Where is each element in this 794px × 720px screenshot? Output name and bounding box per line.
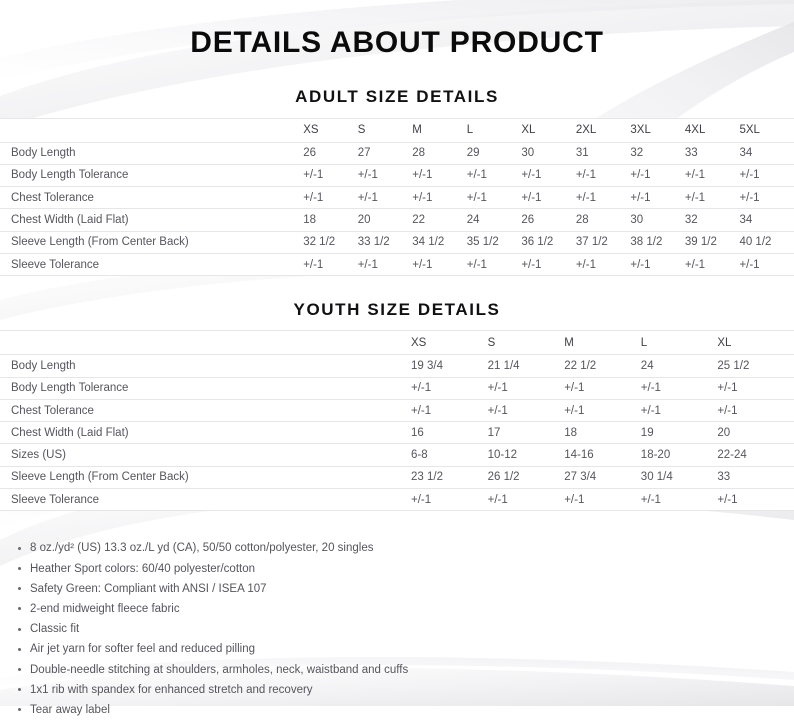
- row-label: Chest Tolerance: [0, 187, 303, 209]
- cell: +/-1: [488, 489, 565, 511]
- cell: 24: [641, 355, 718, 377]
- table-row: Body Length Tolerance +/-1 +/-1 +/-1 +/-…: [0, 377, 794, 399]
- cell: +/-1: [564, 377, 641, 399]
- cell: 22-24: [717, 444, 794, 466]
- cell: 6-8: [411, 444, 488, 466]
- cell: +/-1: [564, 399, 641, 421]
- adult-table-header-row: XS S M L XL 2XL 3XL 4XL 5XL: [0, 118, 794, 142]
- cell: +/-1: [412, 187, 467, 209]
- cell: 33 1/2: [358, 231, 413, 253]
- cell: 34 1/2: [412, 231, 467, 253]
- adult-col-header-xl: XL: [521, 118, 576, 142]
- cell: 32: [685, 209, 740, 231]
- product-details-page: DETAILS ABOUT PRODUCT ADULT SIZE DETAILS…: [0, 0, 794, 706]
- row-label: Body Length: [0, 142, 303, 164]
- cell: 30: [630, 209, 685, 231]
- list-item: Classic fit: [0, 619, 794, 639]
- cell: +/-1: [303, 164, 358, 186]
- cell: +/-1: [521, 253, 576, 275]
- cell: 34: [739, 209, 794, 231]
- cell: 18-20: [641, 444, 718, 466]
- list-item: Air jet yarn for softer feel and reduced…: [0, 639, 794, 659]
- row-label: Chest Width (Laid Flat): [0, 422, 411, 444]
- cell: +/-1: [412, 253, 467, 275]
- list-item: Tear away label: [0, 700, 794, 720]
- table-row: Sizes (US) 6-8 10-12 14-16 18-20 22-24: [0, 444, 794, 466]
- cell: +/-1: [630, 164, 685, 186]
- adult-col-header-m: M: [412, 118, 467, 142]
- table-row: Sleeve Tolerance +/-1 +/-1 +/-1 +/-1 +/-…: [0, 489, 794, 511]
- adult-header-corner: [0, 118, 303, 142]
- table-row: Chest Tolerance +/-1 +/-1 +/-1 +/-1 +/-1: [0, 399, 794, 421]
- youth-col-header-s: S: [488, 331, 565, 355]
- cell: +/-1: [641, 489, 718, 511]
- adult-col-header-4xl: 4XL: [685, 118, 740, 142]
- youth-header-corner: [0, 331, 411, 355]
- cell: 14-16: [564, 444, 641, 466]
- cell: +/-1: [467, 187, 522, 209]
- cell: +/-1: [739, 164, 794, 186]
- cell: +/-1: [630, 187, 685, 209]
- cell: 20: [358, 209, 413, 231]
- cell: +/-1: [685, 164, 740, 186]
- cell: 32 1/2: [303, 231, 358, 253]
- adult-size-table: XS S M L XL 2XL 3XL 4XL 5XL Body Length …: [0, 118, 794, 277]
- adult-size-details-heading: ADULT SIZE DETAILS: [0, 59, 794, 107]
- cell: +/-1: [685, 253, 740, 275]
- row-label: Body Length Tolerance: [0, 377, 411, 399]
- cell: +/-1: [521, 164, 576, 186]
- cell: +/-1: [685, 187, 740, 209]
- cell: +/-1: [564, 489, 641, 511]
- list-item: 8 oz./yd² (US) 13.3 oz./L yd (CA), 50/50…: [0, 538, 794, 558]
- adult-col-header-2xl: 2XL: [576, 118, 631, 142]
- cell: +/-1: [303, 187, 358, 209]
- cell: 17: [488, 422, 565, 444]
- page-title: DETAILS ABOUT PRODUCT: [0, 0, 794, 59]
- cell: 27 3/4: [564, 466, 641, 488]
- cell: 32: [630, 142, 685, 164]
- row-label: Chest Tolerance: [0, 399, 411, 421]
- cell: 22: [412, 209, 467, 231]
- cell: +/-1: [467, 253, 522, 275]
- table-row: Sleeve Length (From Center Back) 23 1/2 …: [0, 466, 794, 488]
- youth-col-header-m: M: [564, 331, 641, 355]
- cell: 24: [467, 209, 522, 231]
- cell: 30 1/4: [641, 466, 718, 488]
- cell: 33: [685, 142, 740, 164]
- cell: 38 1/2: [630, 231, 685, 253]
- adult-col-header-5xl: 5XL: [739, 118, 794, 142]
- adult-col-header-xs: XS: [303, 118, 358, 142]
- cell: 36 1/2: [521, 231, 576, 253]
- table-row: Body Length 26 27 28 29 30 31 32 33 34: [0, 142, 794, 164]
- cell: 26: [521, 209, 576, 231]
- list-item: Heather Sport colors: 60/40 polyester/co…: [0, 559, 794, 579]
- cell: +/-1: [358, 187, 413, 209]
- row-label: Sizes (US): [0, 444, 411, 466]
- cell: 30: [521, 142, 576, 164]
- table-row: Chest Tolerance +/-1 +/-1 +/-1 +/-1 +/-1…: [0, 187, 794, 209]
- cell: 34: [739, 142, 794, 164]
- cell: +/-1: [411, 489, 488, 511]
- cell: 10-12: [488, 444, 565, 466]
- table-row: Sleeve Length (From Center Back) 32 1/2 …: [0, 231, 794, 253]
- cell: +/-1: [411, 377, 488, 399]
- cell: +/-1: [576, 164, 631, 186]
- cell: 27: [358, 142, 413, 164]
- youth-size-details-heading: YOUTH SIZE DETAILS: [0, 276, 794, 320]
- cell: +/-1: [717, 399, 794, 421]
- cell: 19: [641, 422, 718, 444]
- cell: +/-1: [412, 164, 467, 186]
- cell: 23 1/2: [411, 466, 488, 488]
- youth-col-header-l: L: [641, 331, 718, 355]
- cell: 25 1/2: [717, 355, 794, 377]
- cell: 18: [564, 422, 641, 444]
- cell: 26 1/2: [488, 466, 565, 488]
- table-row: Body Length Tolerance +/-1 +/-1 +/-1 +/-…: [0, 164, 794, 186]
- youth-col-header-xl: XL: [717, 331, 794, 355]
- list-item: Safety Green: Compliant with ANSI / ISEA…: [0, 579, 794, 599]
- cell: +/-1: [576, 187, 631, 209]
- cell: 18: [303, 209, 358, 231]
- row-label: Sleeve Length (From Center Back): [0, 466, 411, 488]
- row-label: Chest Width (Laid Flat): [0, 209, 303, 231]
- table-row: Body Length 19 3/4 21 1/4 22 1/2 24 25 1…: [0, 355, 794, 377]
- cell: 29: [467, 142, 522, 164]
- youth-col-header-xs: XS: [411, 331, 488, 355]
- cell: 16: [411, 422, 488, 444]
- cell: +/-1: [739, 187, 794, 209]
- cell: 21 1/4: [488, 355, 565, 377]
- table-row: Chest Width (Laid Flat) 16 17 18 19 20: [0, 422, 794, 444]
- cell: +/-1: [739, 253, 794, 275]
- cell: +/-1: [641, 399, 718, 421]
- cell: 19 3/4: [411, 355, 488, 377]
- cell: 28: [576, 209, 631, 231]
- table-row: Sleeve Tolerance +/-1 +/-1 +/-1 +/-1 +/-…: [0, 253, 794, 275]
- adult-col-header-3xl: 3XL: [630, 118, 685, 142]
- cell: 31: [576, 142, 631, 164]
- cell: +/-1: [576, 253, 631, 275]
- cell: +/-1: [467, 164, 522, 186]
- cell: +/-1: [358, 164, 413, 186]
- cell: +/-1: [411, 399, 488, 421]
- adult-col-header-s: S: [358, 118, 413, 142]
- cell: +/-1: [488, 377, 565, 399]
- row-label: Body Length Tolerance: [0, 164, 303, 186]
- row-label: Body Length: [0, 355, 411, 377]
- cell: +/-1: [641, 377, 718, 399]
- adult-col-header-l: L: [467, 118, 522, 142]
- row-label: Sleeve Length (From Center Back): [0, 231, 303, 253]
- cell: +/-1: [303, 253, 358, 275]
- cell: 37 1/2: [576, 231, 631, 253]
- row-label: Sleeve Tolerance: [0, 253, 303, 275]
- list-item: Double-needle stitching at shoulders, ar…: [0, 660, 794, 680]
- cell: 40 1/2: [739, 231, 794, 253]
- cell: 20: [717, 422, 794, 444]
- cell: +/-1: [521, 187, 576, 209]
- cell: +/-1: [717, 377, 794, 399]
- cell: 35 1/2: [467, 231, 522, 253]
- cell: 22 1/2: [564, 355, 641, 377]
- cell: 39 1/2: [685, 231, 740, 253]
- list-item: 2-end midweight fleece fabric: [0, 599, 794, 619]
- cell: 26: [303, 142, 358, 164]
- row-label: Sleeve Tolerance: [0, 489, 411, 511]
- table-row: Chest Width (Laid Flat) 18 20 22 24 26 2…: [0, 209, 794, 231]
- product-features-list: 8 oz./yd² (US) 13.3 oz./L yd (CA), 50/50…: [0, 511, 794, 720]
- cell: +/-1: [358, 253, 413, 275]
- cell: 28: [412, 142, 467, 164]
- list-item: 1x1 rib with spandex for enhanced stretc…: [0, 680, 794, 700]
- cell: +/-1: [488, 399, 565, 421]
- cell: +/-1: [630, 253, 685, 275]
- cell: 33: [717, 466, 794, 488]
- youth-table-header-row: XS S M L XL: [0, 331, 794, 355]
- cell: +/-1: [717, 489, 794, 511]
- youth-size-table: XS S M L XL Body Length 19 3/4 21 1/4 22…: [0, 330, 794, 511]
